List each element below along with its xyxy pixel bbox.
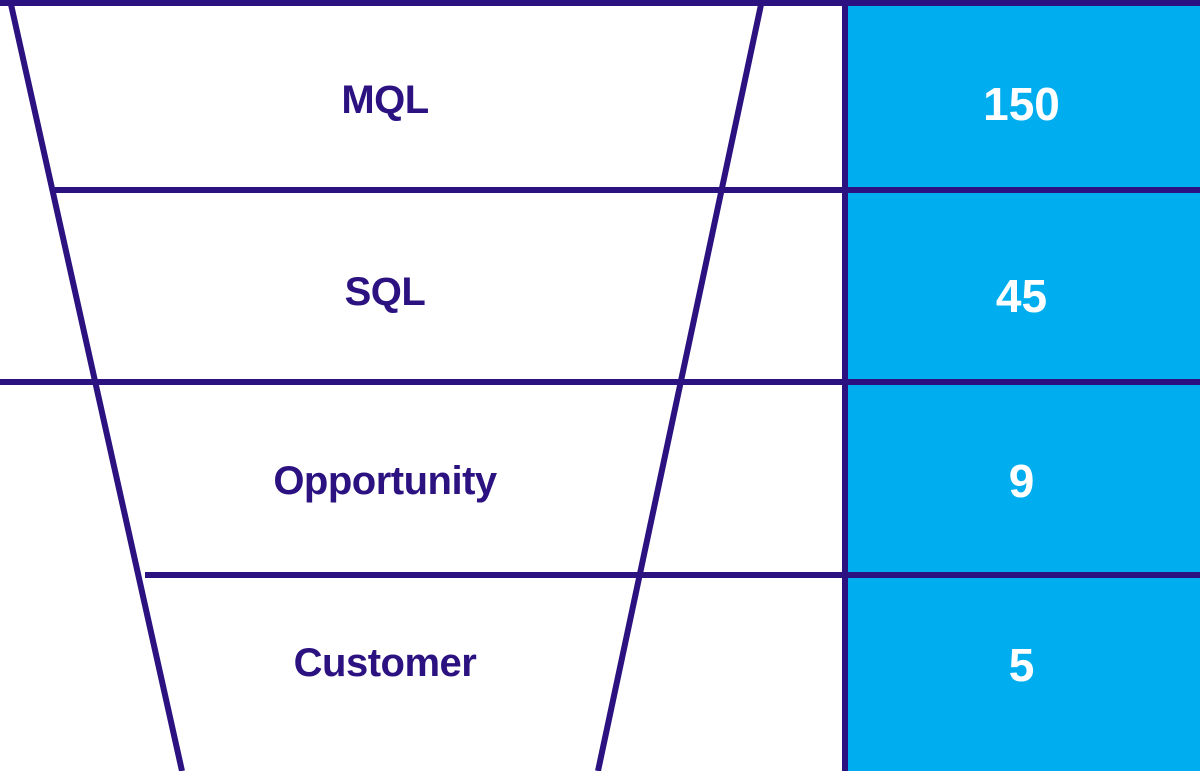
value-column-background [843, 0, 1200, 771]
funnel-chart: MQL SQL Opportunity Customer 150 45 9 5 [0, 0, 1200, 771]
funnel-body [10, 0, 762, 771]
value-cell-bg-opportunity[interactable] [843, 382, 1200, 575]
value-cell-bg-mql[interactable] [843, 0, 1200, 190]
value-cell-bg-sql[interactable] [843, 190, 1200, 382]
value-cell-bg-customer[interactable] [843, 575, 1200, 771]
funnel-diagram [0, 0, 1200, 771]
